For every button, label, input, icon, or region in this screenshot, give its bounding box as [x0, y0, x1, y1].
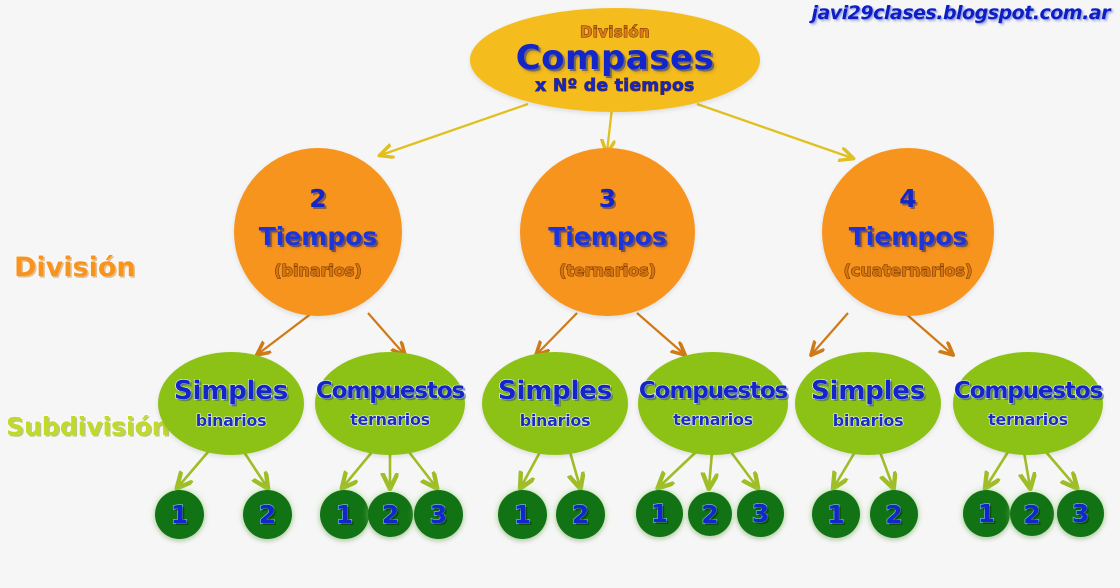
pulse-number-label: 2 [1023, 502, 1040, 527]
beat-number-label: 4 [899, 186, 916, 211]
root-title-label: Compases [516, 41, 715, 75]
subdivision-kind-label: binarios [196, 413, 267, 429]
node-subdivision-compuestos-1[interactable]: Compuestos ternarios [315, 352, 465, 455]
beat-paren-label: (cuaternarios) [844, 263, 973, 279]
node-pulse[interactable]: 2 [368, 492, 413, 537]
node-pulse[interactable]: 1 [812, 490, 860, 538]
node-subdivision-simples-1[interactable]: Simples binarios [158, 352, 304, 455]
node-root-compases[interactable]: División Compases x Nº de tiempos [470, 8, 760, 112]
node-subdivision-simples-3[interactable]: Simples binarios [795, 352, 941, 455]
subdivision-title-label: Simples [174, 378, 288, 404]
node-pulse[interactable]: 1 [320, 490, 369, 539]
node-beat-4[interactable]: 4 Tiempos (cuaternarios) [822, 148, 994, 316]
subdivision-title-label: Compuestos [316, 380, 464, 403]
edges-subdivisions-to-pulses [178, 452, 1076, 487]
subdivision-title-label: Compuestos [639, 380, 787, 403]
subdivision-kind-label: ternarios [673, 412, 753, 428]
node-pulse[interactable]: 2 [688, 492, 732, 536]
node-pulse[interactable]: 2 [1010, 492, 1054, 536]
node-subdivision-simples-2[interactable]: Simples binarios [482, 352, 628, 455]
diagram-canvas: javi29clases.blogspot.com.ar División Su… [0, 0, 1120, 588]
beat-paren-label: (binarios) [274, 263, 362, 279]
root-subtitle-label: x Nº de tiempos [535, 77, 694, 96]
node-pulse[interactable]: 2 [870, 490, 918, 538]
pulse-number-label: 1 [171, 502, 188, 527]
side-label-division: División [14, 252, 136, 283]
beat-paren-label: (ternarios) [559, 263, 656, 279]
pulse-number-label: 2 [259, 502, 276, 527]
node-pulse[interactable]: 1 [498, 490, 547, 539]
pulse-number-label: 2 [885, 502, 902, 527]
node-beat-2[interactable]: 2 Tiempos (binarios) [234, 148, 402, 316]
node-pulse[interactable]: 3 [414, 490, 463, 539]
subdivision-title-label: Compuestos [954, 380, 1102, 403]
subdivision-kind-label: ternarios [350, 412, 430, 428]
pulse-number-label: 1 [978, 501, 995, 526]
node-subdivision-compuestos-2[interactable]: Compuestos ternarios [638, 352, 788, 455]
subdivision-kind-label: ternarios [988, 412, 1068, 428]
node-pulse[interactable]: 1 [636, 490, 683, 537]
node-pulse[interactable]: 2 [556, 490, 605, 539]
node-pulse[interactable]: 2 [243, 490, 292, 539]
beat-number-label: 2 [309, 186, 326, 211]
subdivision-kind-label: binarios [520, 413, 591, 429]
node-beat-3[interactable]: 3 Tiempos (ternarios) [520, 148, 695, 316]
beat-number-label: 3 [599, 186, 616, 211]
pulse-number-label: 2 [701, 502, 718, 527]
node-subdivision-compuestos-3[interactable]: Compuestos ternarios [953, 352, 1103, 455]
subdivision-title-label: Simples [811, 378, 925, 404]
side-label-subdivision: Subdivisión [6, 412, 169, 441]
pulse-number-label: 3 [430, 502, 447, 527]
edges-beats-to-subdivisions [258, 313, 952, 354]
beat-word-label: Tiempos [548, 224, 667, 249]
pulse-number-label: 3 [1072, 501, 1089, 526]
pulse-number-label: 2 [572, 502, 589, 527]
pulse-number-label: 3 [752, 501, 769, 526]
node-pulse[interactable]: 1 [155, 490, 204, 539]
pulse-number-label: 2 [382, 502, 399, 527]
subdivision-title-label: Simples [498, 378, 612, 404]
pulse-number-label: 1 [827, 502, 844, 527]
beat-word-label: Tiempos [849, 224, 968, 249]
site-watermark: javi29clases.blogspot.com.ar [811, 2, 1110, 24]
pulse-number-label: 1 [514, 502, 531, 527]
node-pulse[interactable]: 3 [1057, 490, 1104, 537]
node-pulse[interactable]: 3 [737, 490, 784, 537]
beat-word-label: Tiempos [259, 224, 378, 249]
node-pulse[interactable]: 1 [963, 490, 1010, 537]
subdivision-kind-label: binarios [833, 413, 904, 429]
pulse-number-label: 1 [651, 501, 668, 526]
pulse-number-label: 1 [336, 502, 353, 527]
